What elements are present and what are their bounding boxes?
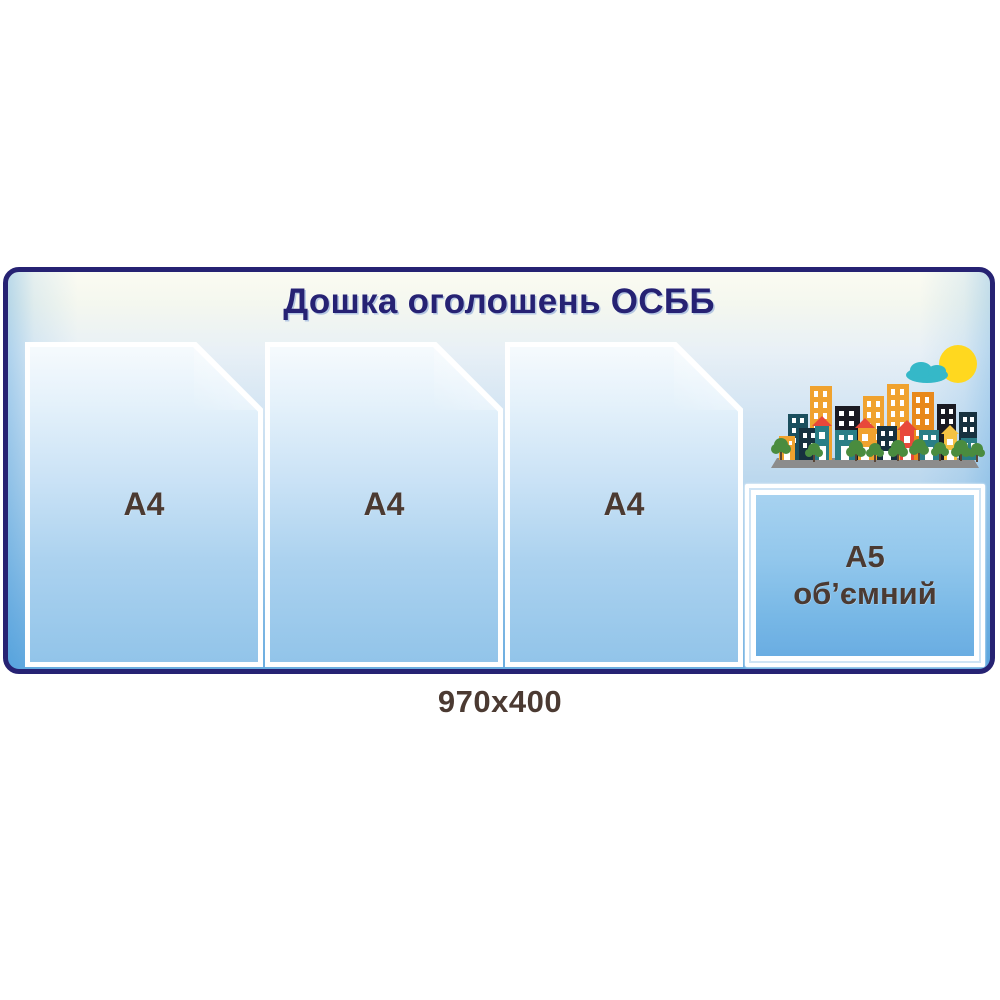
information-board: Дошка оголошень ОСББ A4 A4 A4	[3, 267, 995, 674]
pocket-label: А5 об’ємний	[745, 538, 985, 614]
pocket-a4-3[interactable]: A4	[505, 342, 743, 667]
pocket-label-line2: об’ємний	[745, 576, 985, 614]
cityscape-icon	[755, 340, 995, 480]
pocket-a4-1[interactable]: A4	[25, 342, 263, 667]
pocket-label-line1: А5	[745, 538, 985, 576]
pocket-a5-volume[interactable]: А5 об’ємний	[745, 484, 985, 667]
dimension-caption: 970x400	[0, 684, 1000, 720]
page-title: Дошка оголошень ОСББ	[8, 282, 990, 322]
pocket-a4-2[interactable]: A4	[265, 342, 503, 667]
screenshot-canvas: Дошка оголошень ОСББ A4 A4 A4	[0, 0, 1000, 1000]
pocket-label: A4	[25, 485, 263, 522]
pocket-label: A4	[265, 485, 503, 522]
pocket-label: A4	[505, 485, 743, 522]
